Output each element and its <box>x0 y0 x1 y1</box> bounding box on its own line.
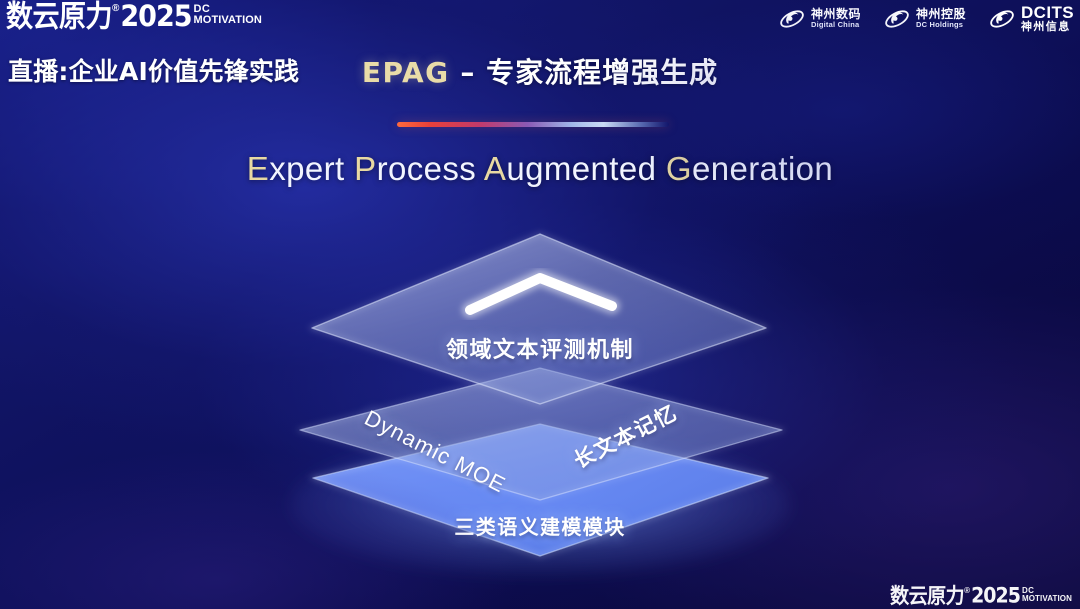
brand-motivation-text: MOTIVATION <box>1022 595 1072 603</box>
page-title: EPAG – 专家流程增强生成 <box>0 51 1080 91</box>
brand-dc-motivation: DC MOTIVATION <box>194 4 262 26</box>
subtitle-part-4: A <box>484 150 506 187</box>
logo-dcits: DCITS 神州信息 <box>988 4 1074 33</box>
partner-logo-group: 神州数码 Digital China 神州控股 DC Holdings <box>778 4 1074 33</box>
swirl-icon <box>988 6 1016 32</box>
brand-registered-mark: ® <box>964 587 970 595</box>
brand-registered-mark: ® <box>112 4 119 14</box>
title-divider <box>397 122 669 127</box>
brand-year: 2025 <box>971 586 1020 607</box>
brand-logo: 数云原力 ® 2025 DC MOTIVATION <box>890 586 1072 605</box>
slide-canvas: 数云原力 ® 2025 DC MOTIVATION 直播:企业AI价值先锋实践 <box>0 0 1080 609</box>
logo-dc-holdings-en: DC Holdings <box>916 21 966 29</box>
subtitle-part-3: rocess <box>377 150 484 187</box>
brand-logo-footer: 数云原力 ® 2025 DC MOTIVATION <box>890 586 1072 605</box>
layer-label-middle-right: 长文本记忆 <box>568 397 682 475</box>
stack-layer-top <box>312 234 766 404</box>
title-dash: – <box>450 56 487 89</box>
brand-dc-motivation: DC MOTIVATION <box>1022 587 1072 603</box>
layer-label-middle-left: Dynamic MOE <box>360 405 510 499</box>
subtitle-part-5: ugmented <box>506 150 666 187</box>
chevron-up-icon <box>470 278 612 310</box>
logo-dcits-en: DCITS <box>1021 4 1074 21</box>
brand-logo: 数云原力 ® 2025 DC MOTIVATION <box>6 2 262 29</box>
title-chinese: 专家流程增强生成 <box>486 56 718 89</box>
brand-name-cn: 数云原力 <box>6 2 112 32</box>
logo-dcits-cn: 神州信息 <box>1021 21 1074 33</box>
logo-dc-holdings-text: 神州控股 DC Holdings <box>916 8 966 28</box>
subtitle-part-6: G <box>666 150 692 187</box>
subtitle-part-2: P <box>354 150 376 187</box>
title-acronym: EPAG <box>362 56 450 89</box>
swirl-icon <box>778 6 806 32</box>
subtitle-part-1: xpert <box>269 150 354 187</box>
layer-label-top: 领域文本评测机制 <box>0 332 1080 364</box>
brand-year: 2025 <box>120 2 191 32</box>
swirl-icon <box>883 6 911 32</box>
layer-label-bottom: 三类语义建模模块 <box>0 511 1080 540</box>
subtitle-part-0: E <box>247 150 269 187</box>
subtitle-part-7: eneration <box>692 150 833 187</box>
brand-name-cn: 数云原力 <box>890 586 964 607</box>
logo-digital-china-en: Digital China <box>811 21 861 29</box>
logo-dc-holdings: 神州控股 DC Holdings <box>883 6 966 32</box>
brand-motivation-text: MOTIVATION <box>194 15 262 26</box>
logo-dcits-text: DCITS 神州信息 <box>1021 4 1074 33</box>
page-subtitle-english: Expert Process Augmented Generation <box>0 150 1080 188</box>
logo-digital-china-text: 神州数码 Digital China <box>811 8 861 28</box>
logo-digital-china: 神州数码 Digital China <box>778 6 861 32</box>
brand-logo-top-left: 数云原力 ® 2025 DC MOTIVATION <box>6 2 262 29</box>
